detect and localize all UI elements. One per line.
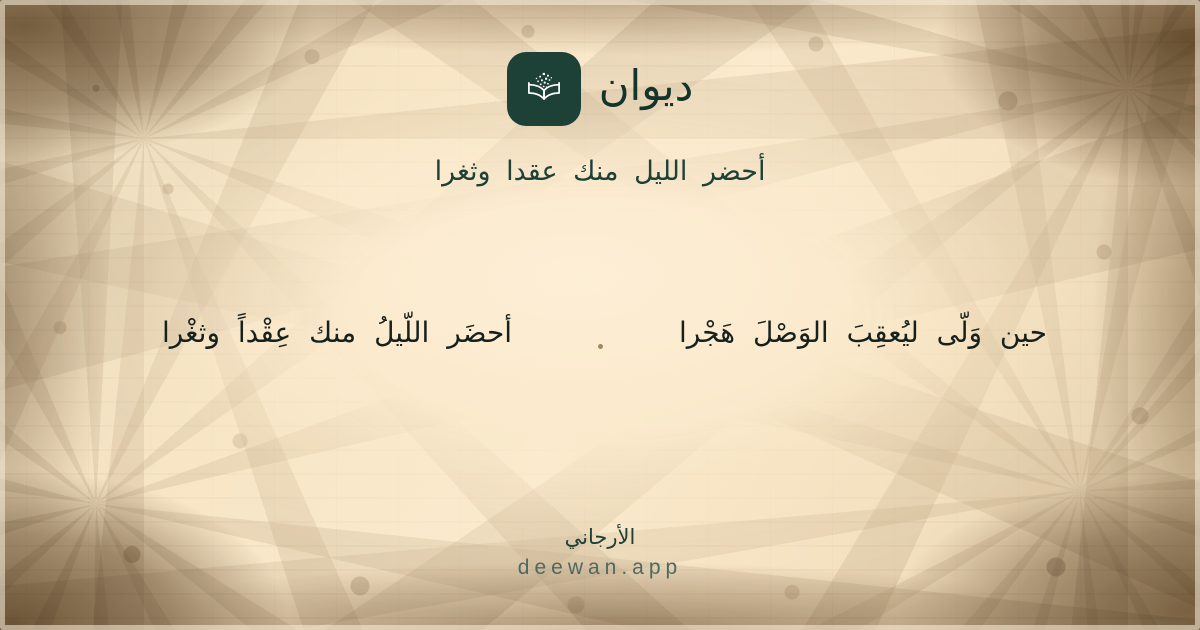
card-footer: الأرجاني deewan.app — [0, 527, 1200, 578]
brand-name: ديوان — [599, 65, 694, 113]
brand-header[interactable]: ديوان — [507, 52, 694, 126]
poem-title: أحضر الليل منك عقدا وثغرا — [435, 152, 766, 193]
verse-block: أحضَر اللّيلُ منك عِقْداً وثغْرا حين وَل… — [0, 311, 1200, 354]
poem-share-card: ديوان أحضر الليل منك عقدا وثغرا أحضَر ال… — [0, 0, 1200, 630]
site-url[interactable]: deewan.app — [518, 557, 682, 578]
card-content: ديوان أحضر الليل منك عقدا وثغرا أحضَر ال… — [0, 0, 1200, 630]
open-book-sparkles-icon — [507, 52, 581, 126]
separator-dot — [598, 344, 603, 349]
poet-name: الأرجاني — [565, 527, 636, 548]
verse-separator — [577, 330, 623, 335]
verse-first-hemistich: أحضَر اللّيلُ منك عِقْداً وثغْرا — [97, 311, 577, 354]
verse-second-hemistich: حين وَلّى ليُعقِبَ الوَصْلَ هَجْرا — [623, 311, 1103, 354]
